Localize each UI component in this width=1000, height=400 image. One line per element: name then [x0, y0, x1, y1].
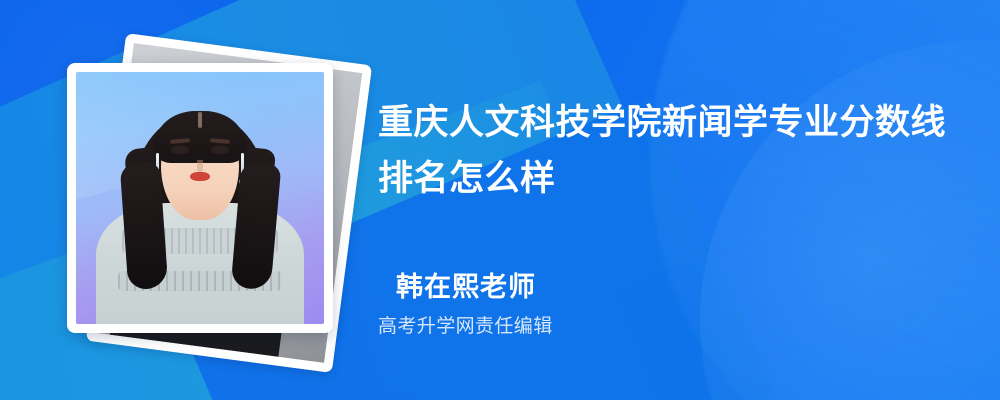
byline: 韩在熙老师 高考升学网责任编辑: [378, 270, 553, 340]
article-banner: 重庆人文科技学院新闻学专业分数线排名怎么样 韩在熙老师 高考升学网责任编辑: [0, 0, 1000, 400]
author-role: 高考升学网责任编辑: [378, 314, 553, 340]
mouth: [190, 172, 210, 181]
portrait-illustration: [76, 72, 324, 324]
author-photo: [76, 72, 324, 324]
page-title: 重庆人文科技学院新闻学专业分数线排名怎么样: [378, 95, 958, 207]
hair-part: [198, 112, 202, 128]
nose: [197, 160, 203, 172]
photo-card-stack: [60, 40, 370, 360]
banner-content: 重庆人文科技学院新闻学专业分数线排名怎么样 韩在熙老师 高考升学网责任编辑: [378, 0, 970, 400]
author-name: 韩在熙老师: [396, 270, 553, 304]
photo-card-front: [67, 63, 333, 333]
